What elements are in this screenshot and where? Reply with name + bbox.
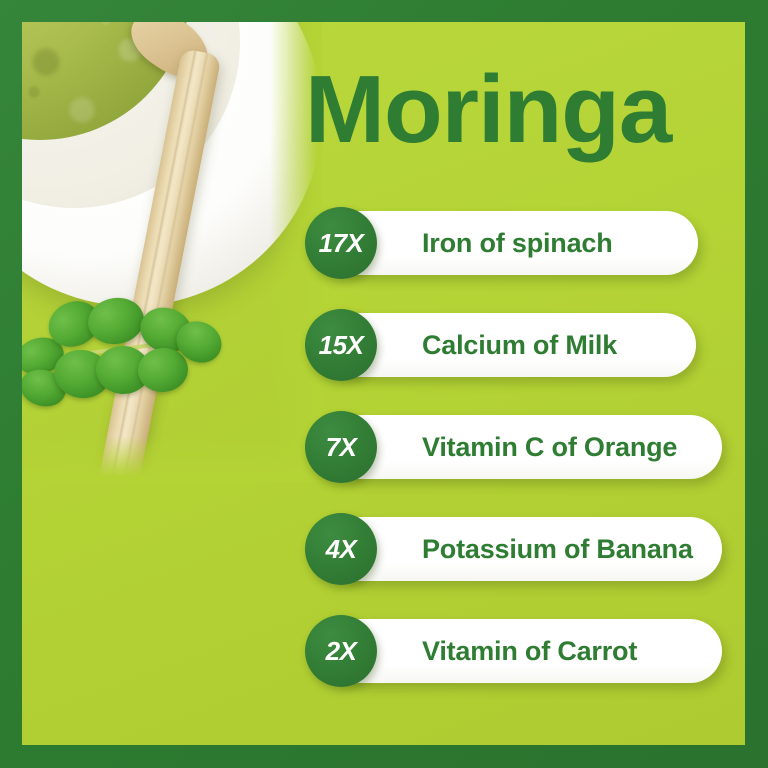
page-title: Moringa (305, 62, 671, 158)
fact-label: Vitamin C of Orange (422, 432, 677, 463)
fact-label: Vitamin of Carrot (422, 636, 637, 667)
list-item[interactable]: Potassium of Banana 4X (305, 513, 705, 585)
list-item[interactable]: Vitamin C of Orange 7X (305, 411, 705, 483)
list-item[interactable]: Vitamin of Carrot 2X (305, 615, 705, 687)
multiplier-value: 7X (326, 432, 357, 463)
poster-inner-panel: Moringa Iron of spinach 17X Calcium of M… (22, 22, 745, 745)
multiplier-value: 15X (319, 330, 364, 361)
moringa-infographic-poster: Moringa Iron of spinach 17X Calcium of M… (0, 0, 768, 768)
list-item[interactable]: Calcium of Milk 15X (305, 309, 705, 381)
fact-pill[interactable]: Vitamin of Carrot (330, 619, 722, 683)
fact-pill[interactable]: Iron of spinach (330, 211, 698, 275)
multiplier-badge: 4X (305, 513, 377, 585)
fact-label: Calcium of Milk (422, 330, 617, 361)
list-item[interactable]: Iron of spinach 17X (305, 207, 705, 279)
fact-label: Potassium of Banana (422, 534, 693, 565)
multiplier-badge: 17X (305, 207, 377, 279)
fact-pill[interactable]: Calcium of Milk (330, 313, 696, 377)
multiplier-value: 17X (319, 228, 364, 259)
photo-bottom-blend (22, 436, 322, 482)
fact-pill[interactable]: Vitamin C of Orange (330, 415, 722, 479)
nutrient-fact-list: Iron of spinach 17X Calcium of Milk 15X … (305, 207, 705, 687)
moringa-leaf-sprig (22, 292, 224, 410)
multiplier-badge: 15X (305, 309, 377, 381)
multiplier-value: 4X (326, 534, 357, 565)
moringa-powder-bowl-photo (22, 22, 322, 482)
fact-pill[interactable]: Potassium of Banana (330, 517, 722, 581)
multiplier-value: 2X (326, 636, 357, 667)
multiplier-badge: 2X (305, 615, 377, 687)
leaflet-icon (84, 293, 147, 348)
fact-label: Iron of spinach (422, 228, 613, 259)
multiplier-badge: 7X (305, 411, 377, 483)
